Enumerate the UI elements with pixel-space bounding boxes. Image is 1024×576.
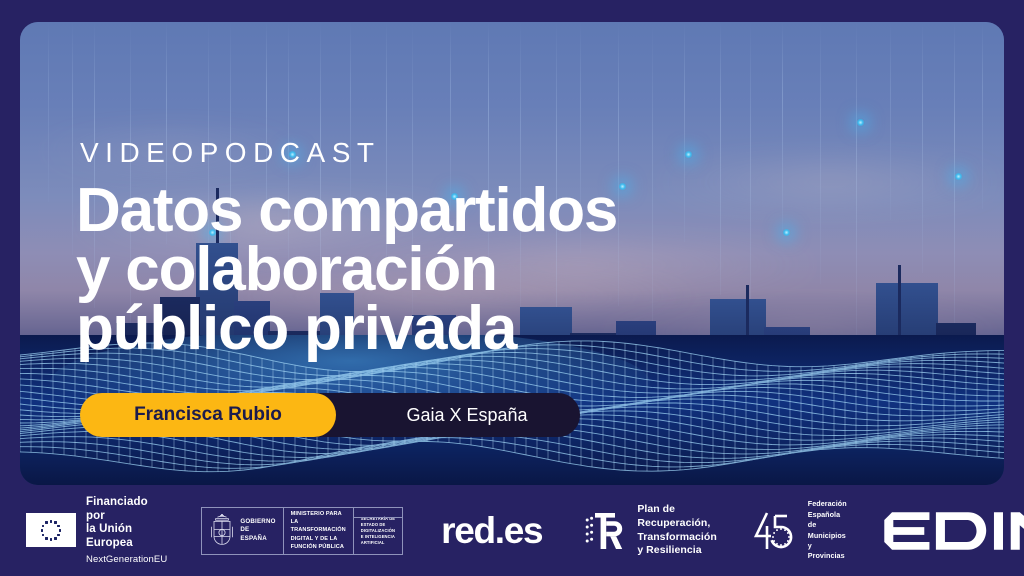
speaker-pill: Francisca Rubio [80, 393, 336, 437]
glow-node [856, 118, 865, 127]
light-streak [982, 22, 983, 209]
femp-line-2: Española de [808, 510, 847, 531]
logo-edint [883, 511, 1024, 551]
plan-recuperacion-text: Plan de Recuperación, Transformación y R… [637, 503, 716, 558]
secretaria-label: SECRETARÍA DE ESTADO DE DIGITALIZACIÓN E… [361, 516, 395, 554]
eu-line-1: Financiado por [86, 496, 167, 523]
femp-text: Federación Española de Municipios y Prov… [808, 499, 847, 562]
femp-star [776, 529, 778, 531]
edint-wordmark-icon [883, 511, 1024, 551]
femp-star [772, 536, 774, 538]
eu-star [57, 525, 60, 528]
femp-star [773, 540, 775, 542]
eu-star [45, 521, 48, 524]
glow-node [684, 150, 693, 159]
hero-card: VIDEOPODCAST Datos compartidos y colabor… [20, 22, 1004, 485]
logo-gobierno-de-espana: GOBIERNO DE ESPAÑA MINISTERIO PARA LA TR… [201, 507, 403, 555]
gobierno-label-2: DE ESPAÑA [240, 526, 275, 543]
ministerio-label: MINISTERIO PARA LA TRANSFORMACIÓN DIGITA… [291, 510, 346, 551]
plan-recuperacion-monogram-icon [582, 509, 628, 553]
gobierno-cell: GOBIERNO DE ESPAÑA [202, 508, 282, 554]
logo-femp: Federación Española de Municipios y Prov… [751, 499, 847, 562]
eu-line-2: la Unión Europea [86, 523, 167, 550]
femp-star [787, 540, 789, 542]
logo-plan-recuperacion: Plan de Recuperación, Transformación y R… [582, 503, 716, 558]
femp-star [776, 542, 778, 544]
gobierno-label-1: GOBIERNO [240, 518, 275, 526]
footer-logos: Financiado por la Unión Europea NextGene… [0, 485, 1024, 576]
eu-star [50, 520, 53, 523]
plan-line-2: Transformación [637, 531, 716, 545]
eu-star [54, 537, 57, 540]
title-line: y colaboración [76, 241, 617, 300]
femp-star [780, 528, 782, 530]
eu-star [50, 538, 53, 541]
femp-star [773, 532, 775, 534]
femp-star [788, 536, 790, 538]
eu-star [54, 521, 57, 524]
femp-line-1: Federación [808, 499, 847, 509]
femp-anniversary-icon [751, 509, 801, 553]
eu-star [59, 529, 62, 532]
eu-star [41, 529, 44, 532]
logo-european-union: Financiado por la Unión Europea NextGene… [26, 496, 167, 564]
poster: VIDEOPODCAST Datos compartidos y colabor… [0, 0, 1024, 576]
eu-line-3: NextGenerationEU [86, 554, 167, 565]
title-line: Datos compartidos [76, 182, 617, 241]
page-title: Datos compartidos y colaboración público… [76, 182, 617, 359]
logo-red-es: red.es [441, 510, 542, 552]
femp-line-4: Provincias [808, 551, 847, 561]
coat-of-arms-icon [209, 514, 235, 548]
plan-line-3: y Resiliencia [637, 544, 716, 558]
secretaria-cell: SECRETARÍA DE ESTADO DE DIGITALIZACIÓN E… [353, 508, 402, 554]
gobierno-label: GOBIERNO DE ESPAÑA [240, 518, 275, 543]
eu-star [45, 537, 48, 540]
eu-flag-icon [26, 513, 76, 547]
plan-line-1: Plan de Recuperación, [637, 503, 716, 530]
ministerio-cell: MINISTERIO PARA LA TRANSFORMACIÓN DIGITA… [283, 508, 353, 554]
eu-star [57, 534, 60, 537]
title-line: público privada [76, 300, 617, 359]
organization-pill: Gaia X España [294, 393, 580, 437]
femp-line-3: Municipios y [808, 531, 847, 552]
femp-star [780, 544, 782, 546]
femp-star [787, 532, 789, 534]
eu-star [42, 525, 45, 528]
femp-star [784, 542, 786, 544]
eu-funding-text: Financiado por la Unión Europea NextGene… [86, 496, 167, 564]
femp-star [784, 529, 786, 531]
eu-star [42, 534, 45, 537]
light-streak [48, 22, 49, 202]
glow-node [954, 172, 963, 181]
kicker-label: VIDEOPODCAST [80, 139, 380, 167]
